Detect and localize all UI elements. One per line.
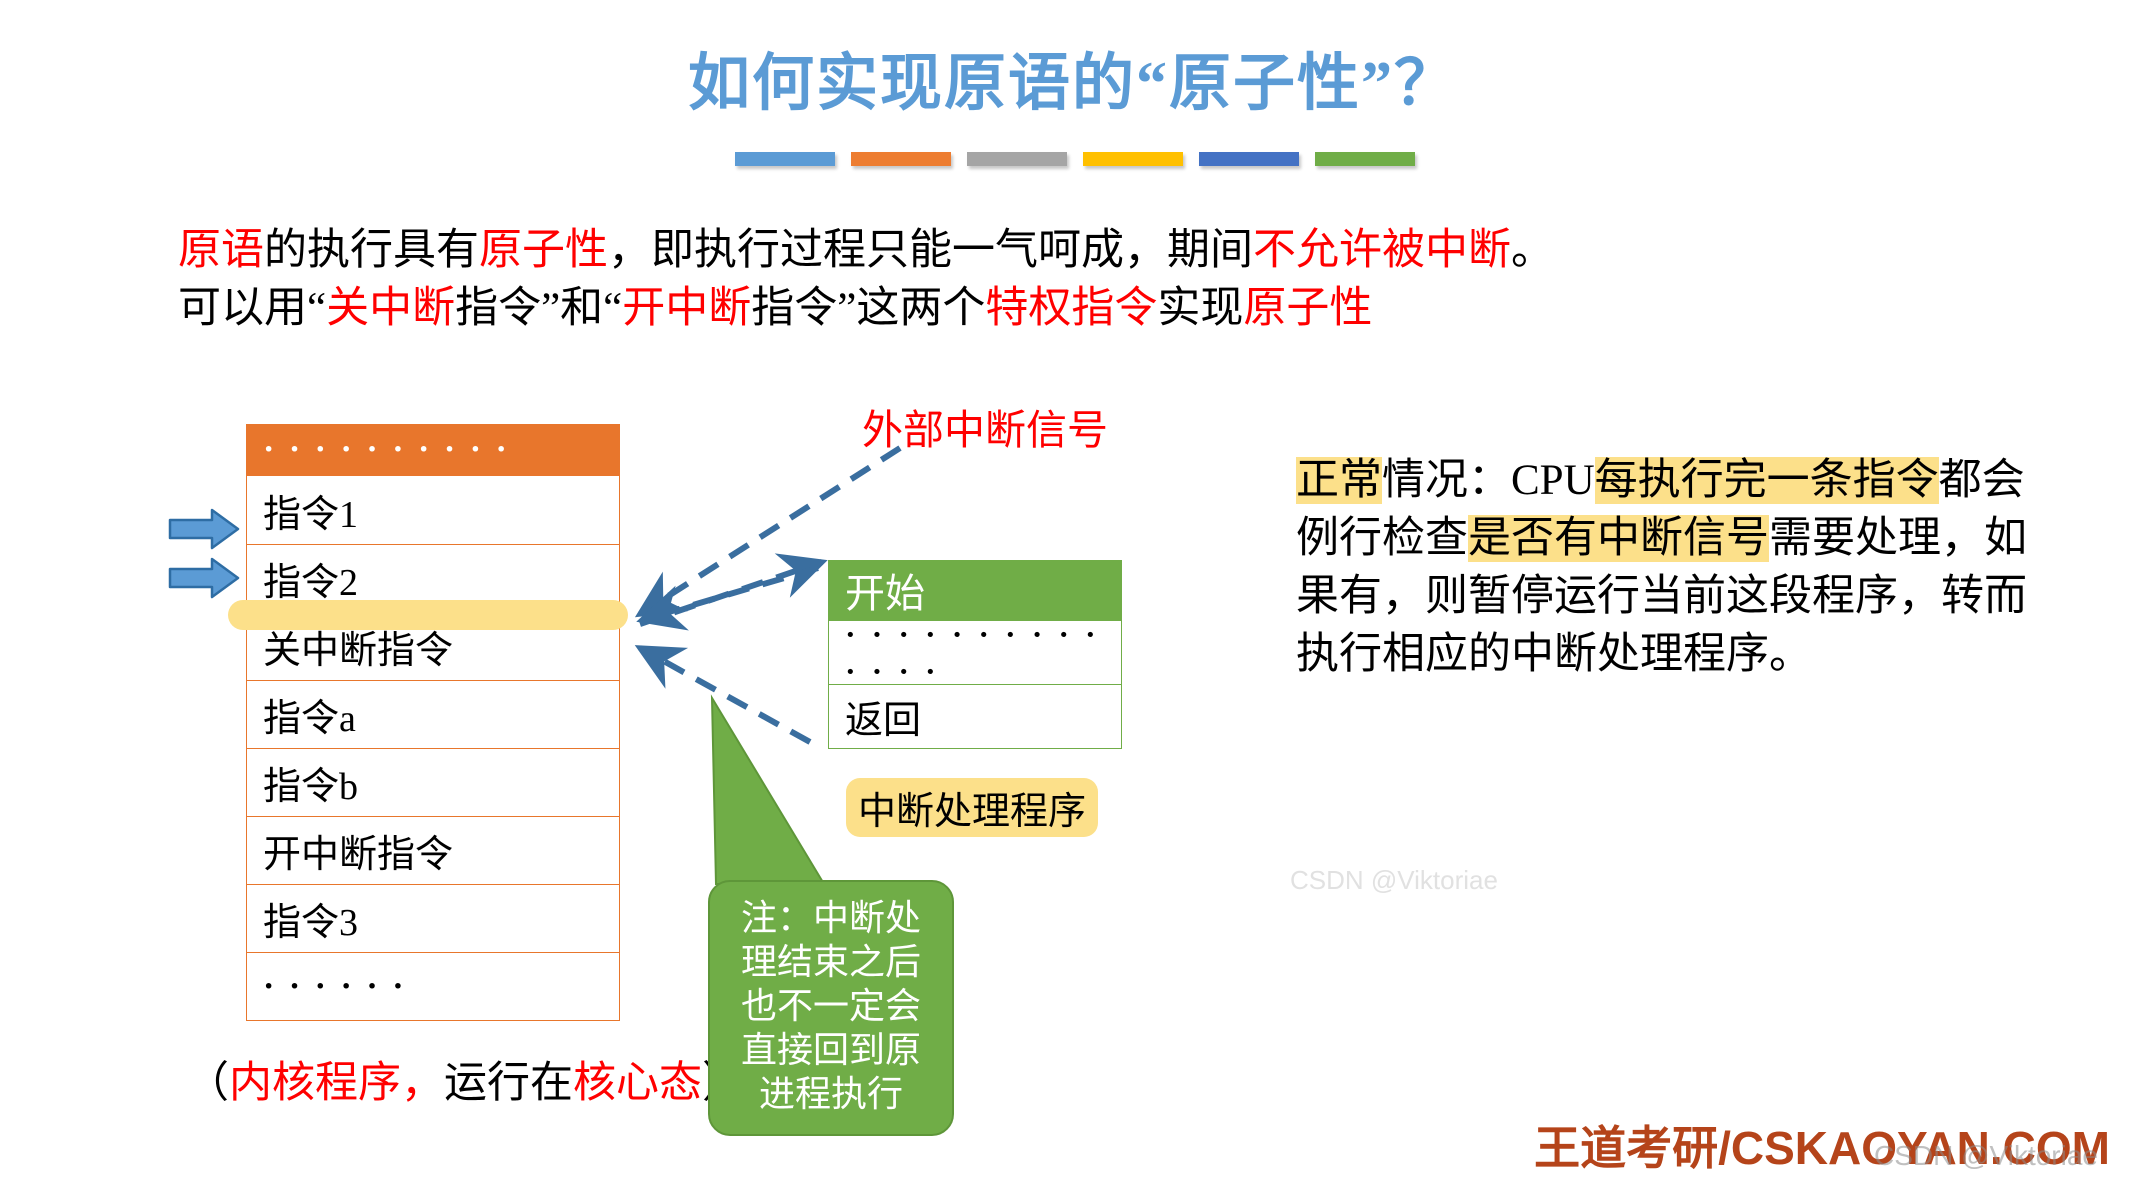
execution-pointer-arrow-1 bbox=[168, 508, 240, 550]
text-run-2: 每执行完一条指令 bbox=[1595, 457, 1939, 504]
isr-table-row: · · · · · · · · · · · · · · bbox=[829, 620, 1121, 684]
kernel-table-row: 指令1 bbox=[247, 476, 619, 544]
intro-line-1: 原语的执行具有原子性，即执行过程只能一气呵成，期间不允许被中断。 bbox=[178, 222, 1554, 280]
text-run-0: 可以用“ bbox=[178, 285, 326, 332]
text-run-1: 情况：CPU bbox=[1382, 457, 1595, 504]
accent-bar-yellow bbox=[1083, 152, 1183, 166]
text-run-4: 不允许被中断 bbox=[1253, 227, 1511, 274]
kernel-table-header: · · · · · · · · · · bbox=[247, 424, 619, 476]
text-run-0: 正常 bbox=[1296, 457, 1382, 504]
text-run-4: 是否有中断信号 bbox=[1468, 515, 1769, 562]
text-run-3: ，即执行过程只能一气呵成，期间 bbox=[608, 227, 1253, 274]
csdn-watermark-faint: CSDN @Viktoriae bbox=[1290, 865, 1498, 896]
text-run-1: 关中断 bbox=[326, 285, 455, 332]
text-run-7: 原子性 bbox=[1243, 285, 1372, 332]
execution-pointer-arrow-2 bbox=[168, 557, 240, 599]
dashed-arrow-to-isr bbox=[640, 562, 822, 624]
isr-table-header: 开始 bbox=[829, 560, 1121, 620]
text-run-5: 特权指令 bbox=[985, 285, 1157, 332]
intro-paragraph: 原语的执行具有原子性，即执行过程只能一气呵成，期间不允许被中断。 可以用“关中断… bbox=[178, 222, 1554, 338]
kernel-table-caption: （内核程序，运行在核心态） bbox=[186, 1048, 745, 1110]
csdn-watermark: CSDN @Viktoriae bbox=[1874, 1140, 2098, 1172]
kernel-table-row: 开中断指令 bbox=[247, 816, 619, 884]
callout-note: 注：中断处理结束之后也不一定会直接回到原进程执行 bbox=[708, 880, 954, 1136]
text-run-3: 开中断 bbox=[622, 285, 751, 332]
accent-bar-gray bbox=[967, 152, 1067, 166]
accent-bar-orange bbox=[851, 152, 951, 166]
interrupt-point-highlight bbox=[228, 600, 628, 630]
text-run-2: 指令”和“ bbox=[455, 285, 622, 332]
text-run-2: 运行在 bbox=[444, 1060, 573, 1107]
dashed-arrow-isr-entry bbox=[642, 568, 818, 620]
external-interrupt-signal-label: 外部中断信号 bbox=[862, 396, 1108, 456]
intro-line-2: 可以用“关中断指令”和“开中断指令”这两个特权指令实现原子性 bbox=[178, 280, 1554, 338]
kernel-program-table: · · · · · · · · · · 指令1指令2关中断指令指令a指令b开中断… bbox=[246, 424, 620, 1021]
text-run-4: 指令”这两个 bbox=[751, 285, 985, 332]
accent-bar-green bbox=[1315, 152, 1415, 166]
text-run-0: 原语 bbox=[178, 227, 264, 274]
text-run-3: 核心态 bbox=[573, 1060, 702, 1107]
page-title: 如何实现原语的“原子性”？ bbox=[0, 32, 2146, 122]
kernel-table-row: · · · · · · bbox=[247, 952, 619, 1020]
callout-tail bbox=[708, 688, 968, 888]
kernel-table-row: 指令3 bbox=[247, 884, 619, 952]
text-run-5: 。 bbox=[1511, 227, 1554, 274]
accent-bar-darkblue bbox=[1199, 152, 1299, 166]
accent-bar-group bbox=[735, 152, 1415, 166]
slide-canvas: 如何实现原语的“原子性”？ 原语的执行具有原子性，即执行过程只能一气呵成，期间不… bbox=[0, 0, 2146, 1196]
accent-bar-blue bbox=[735, 152, 835, 166]
text-run-1: 内核程序， bbox=[229, 1060, 444, 1107]
normal-case-explanation: 正常情况：CPU每执行完一条指令都会例行检查是否有中断信号需要处理，如果有，则暂… bbox=[1296, 452, 2066, 684]
kernel-table-row: 指令a bbox=[247, 680, 619, 748]
text-run-6: 实现 bbox=[1157, 285, 1243, 332]
text-run-0: （ bbox=[186, 1060, 229, 1107]
kernel-table-row: 指令b bbox=[247, 748, 619, 816]
text-run-2: 原子性 bbox=[479, 227, 608, 274]
text-run-1: 的执行具有 bbox=[264, 227, 479, 274]
